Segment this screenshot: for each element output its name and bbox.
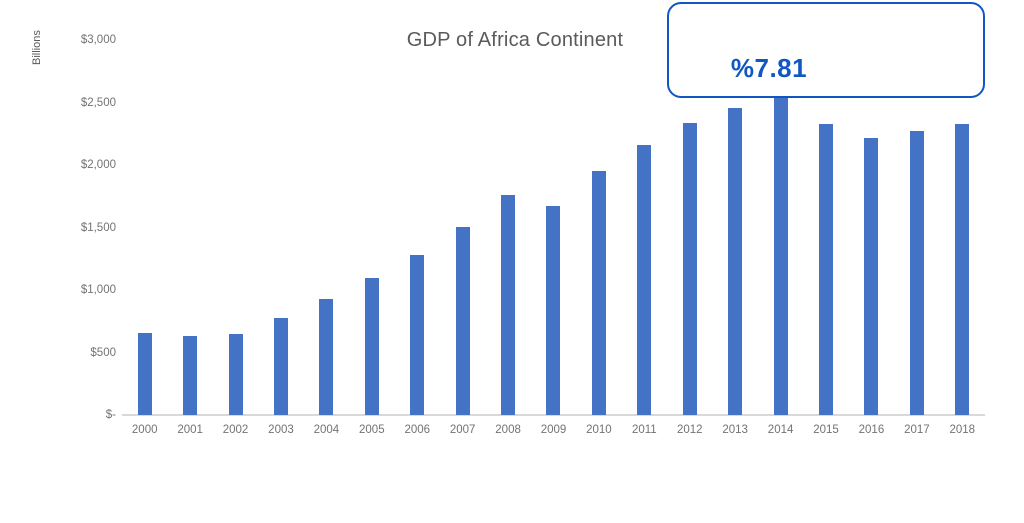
x-axis-tick-label: 2005 [359, 424, 385, 436]
bar-2005[interactable] [365, 278, 379, 415]
y-axis-tick-label: $3,000 [62, 34, 116, 46]
x-axis-tick-label: 2003 [268, 424, 294, 436]
bar-2018[interactable] [955, 124, 969, 415]
bar-slot [758, 40, 803, 415]
bar-slot [485, 40, 530, 415]
y-axis-title: Billions [31, 0, 51, 65]
bar-slot [531, 40, 576, 415]
y-axis-tick-label: $500 [62, 347, 116, 359]
bar-2000[interactable] [138, 333, 152, 415]
bar-slot [167, 40, 212, 415]
bar-2009[interactable] [546, 206, 560, 415]
x-axis-tick-label: 2009 [541, 424, 567, 436]
bar-2014[interactable] [774, 98, 788, 415]
x-axis-tick-label: 2015 [813, 424, 839, 436]
bar-slot [712, 40, 757, 415]
bar-2013[interactable] [728, 108, 742, 415]
x-axis-tick-label: 2017 [904, 424, 930, 436]
chart-container: GDP of Africa Continent %7.81 Billions $… [0, 0, 1024, 523]
x-axis-tick-label: 2006 [404, 424, 430, 436]
x-axis-tick-label: 2016 [859, 424, 885, 436]
bar-2010[interactable] [592, 171, 606, 415]
y-axis-tick-labels: $3,000$2,500$2,000$1,500$1,000$500$- [58, 40, 116, 416]
bar-slot [440, 40, 485, 415]
bar-2011[interactable] [637, 145, 651, 415]
x-axis-tick-label: 2007 [450, 424, 476, 436]
bar-2006[interactable] [410, 255, 424, 415]
bar-slot [622, 40, 667, 415]
bar-slot [803, 40, 848, 415]
bar-2012[interactable] [683, 123, 697, 416]
bar-2017[interactable] [910, 131, 924, 415]
x-axis-tick-label: 2000 [132, 424, 158, 436]
x-axis-tick-label: 2013 [722, 424, 748, 436]
bar-slot [667, 40, 712, 415]
bar-slot [576, 40, 621, 415]
x-axis-tick-label: 2014 [768, 424, 794, 436]
bar-slot [349, 40, 394, 415]
x-axis-tick-label: 2012 [677, 424, 703, 436]
bar-slot [304, 40, 349, 415]
bar-2001[interactable] [183, 336, 197, 415]
x-axis-tick-labels: 2000200120022003200420052006200720082009… [122, 424, 985, 444]
x-axis-tick-label: 2001 [177, 424, 203, 436]
y-axis-tick-label: $- [62, 409, 116, 421]
bar-slot [213, 40, 258, 415]
x-axis-tick-label: 2010 [586, 424, 612, 436]
bar-2004[interactable] [319, 299, 333, 415]
y-axis-tick-label: $2,000 [62, 159, 116, 171]
bar-slot [258, 40, 303, 415]
x-axis-tick-label: 2011 [632, 424, 657, 436]
x-axis-tick-label: 2008 [495, 424, 521, 436]
y-axis-tick-label: $1,500 [62, 222, 116, 234]
bar-slot [122, 40, 167, 415]
bar-2003[interactable] [274, 318, 288, 416]
y-axis-tick-label: $2,500 [62, 97, 116, 109]
x-axis-tick-label: 2002 [223, 424, 249, 436]
bar-2015[interactable] [819, 124, 833, 415]
bar-slot [940, 40, 985, 415]
x-axis-tick-label: 2004 [314, 424, 340, 436]
bar-2016[interactable] [864, 138, 878, 415]
x-axis-tick-label: 2018 [949, 424, 975, 436]
bar-slot [849, 40, 894, 415]
bar-2008[interactable] [501, 195, 515, 415]
bar-2007[interactable] [456, 227, 470, 415]
bar-slot [395, 40, 440, 415]
bar-slot [894, 40, 939, 415]
y-axis-tick-label: $1,000 [62, 284, 116, 296]
bar-2002[interactable] [229, 334, 243, 415]
bars-layer [122, 40, 985, 415]
